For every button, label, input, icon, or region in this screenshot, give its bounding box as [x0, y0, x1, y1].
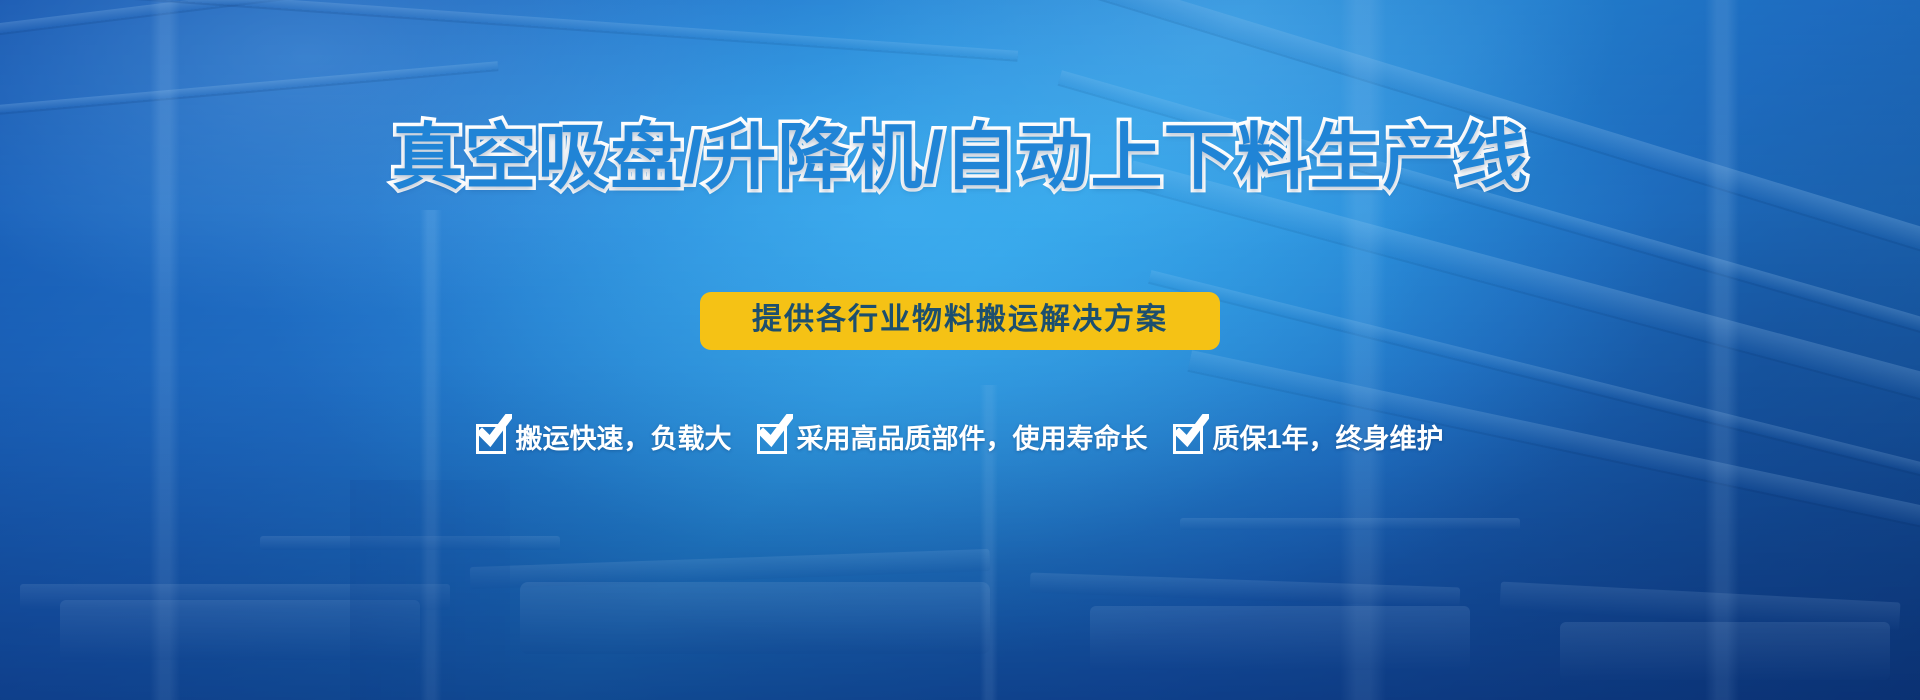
checkbox-check-icon [757, 424, 787, 454]
banner-content: 真空吸盘/升降机/自动上下料生产线 提供各行业物料搬运解决方案 搬运快速，负载大 [0, 0, 1920, 700]
feature-label: 采用高品质部件，使用寿命长 [796, 426, 1147, 453]
feature-label: 质保1年，终身维护 [1212, 426, 1443, 453]
feature-label: 搬运快速，负载大 [515, 426, 731, 453]
feature-item: 质保1年，终身维护 [1173, 424, 1443, 454]
banner-subtitle-badge: 提供各行业物料搬运解决方案 [700, 292, 1220, 350]
banner-headline: 真空吸盘/升降机/自动上下料生产线 [0, 122, 1920, 194]
banner-feature-list: 搬运快速，负载大 采用高品质部件，使用寿命长 质保1年，终身维护 [0, 424, 1920, 454]
hero-banner: 真空吸盘/升降机/自动上下料生产线 提供各行业物料搬运解决方案 搬运快速，负载大 [0, 0, 1920, 700]
checkbox-check-icon [476, 424, 506, 454]
banner-badge-row: 提供各行业物料搬运解决方案 [0, 292, 1920, 350]
checkbox-check-icon [1173, 424, 1203, 454]
feature-item: 搬运快速，负载大 [476, 424, 731, 454]
feature-item: 采用高品质部件，使用寿命长 [757, 424, 1147, 454]
